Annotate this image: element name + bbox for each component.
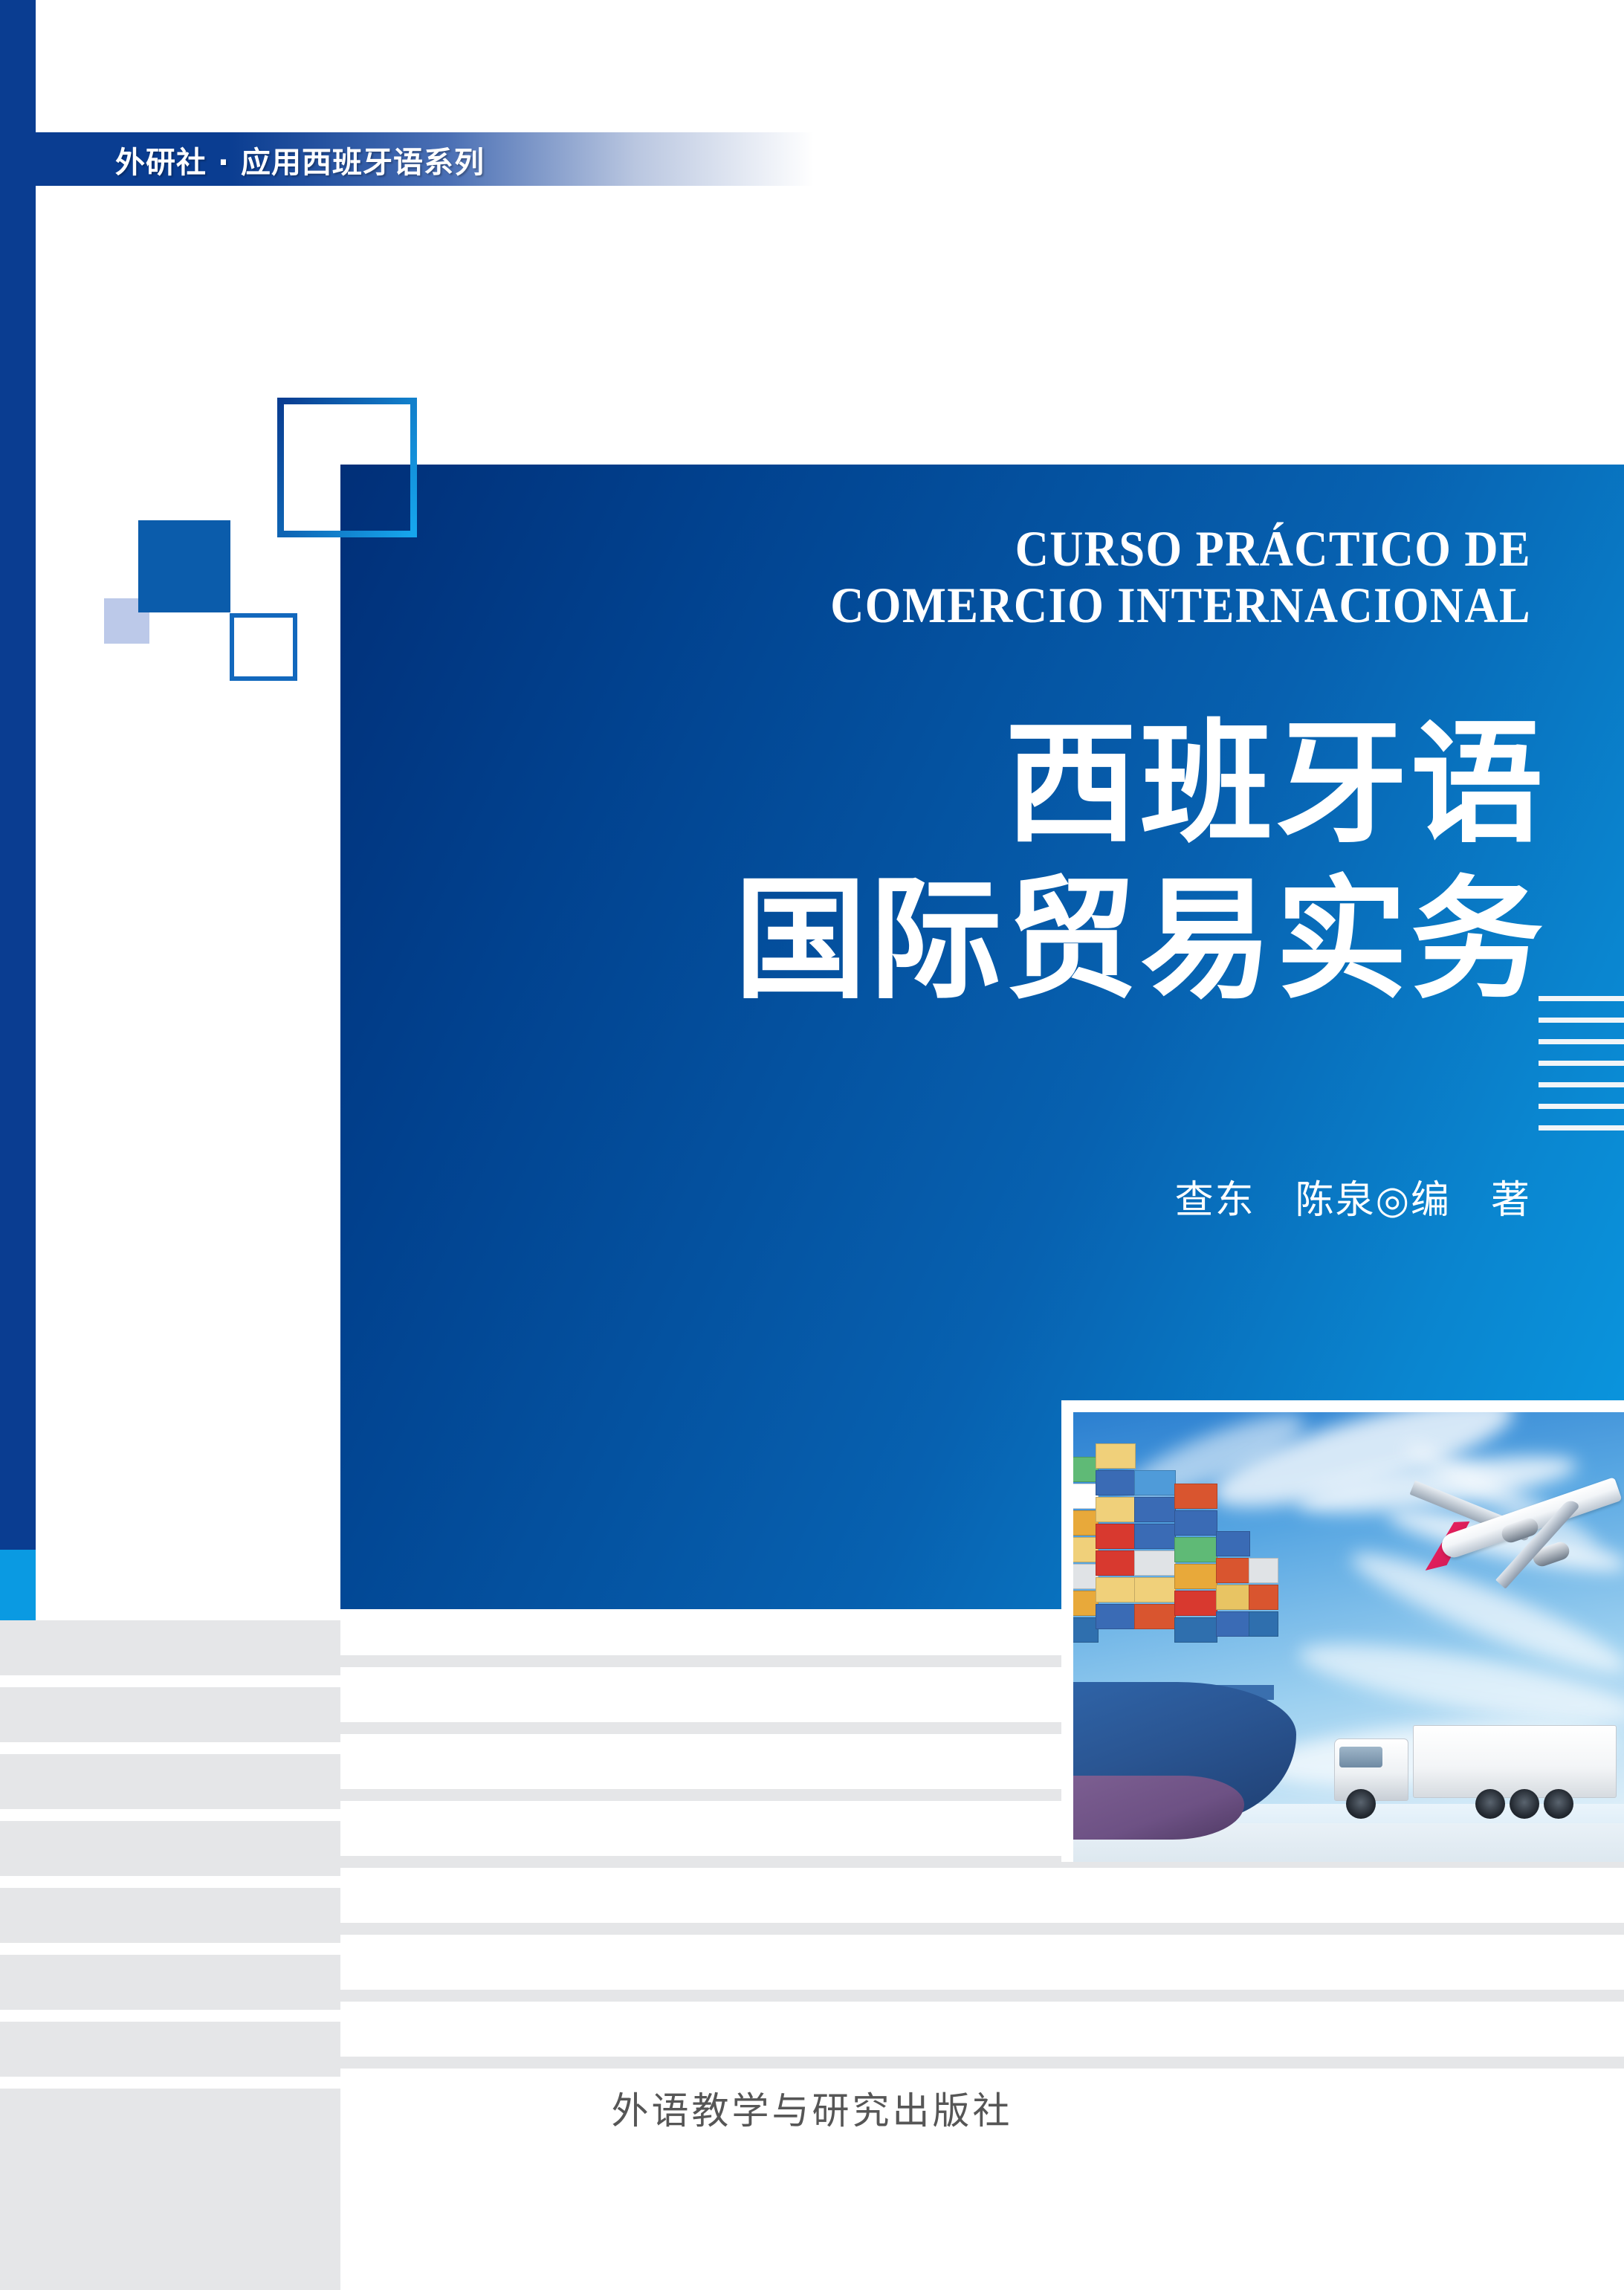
chinese-title-line-1: 西班牙语 — [0, 706, 1546, 862]
cover-photo-frame — [1061, 1400, 1624, 1862]
airplane-icon — [1393, 1453, 1624, 1594]
container-stack — [1073, 1412, 1296, 1710]
shipping-container — [1073, 1591, 1099, 1616]
shipping-container — [1096, 1550, 1136, 1576]
shipping-container — [1073, 1457, 1099, 1482]
shipping-container — [1073, 1564, 1099, 1589]
shipping-container — [1134, 1524, 1176, 1549]
shipping-container — [1216, 1531, 1250, 1556]
shipping-container — [1249, 1611, 1278, 1637]
chinese-title-line-2: 国际贸易实务 — [0, 862, 1546, 1018]
shipping-container — [1096, 1443, 1136, 1469]
shipping-container — [1134, 1470, 1176, 1495]
shipping-container — [1174, 1510, 1217, 1536]
left-brand-bar-accent — [0, 1550, 36, 1620]
shipping-container — [1216, 1558, 1250, 1583]
shipping-container — [1096, 1497, 1136, 1522]
shipping-container — [1249, 1558, 1278, 1583]
shipping-container — [1174, 1591, 1217, 1616]
truck-wheel — [1544, 1789, 1573, 1819]
logistics-photo — [1073, 1412, 1624, 1862]
shipping-container — [1073, 1510, 1099, 1536]
chinese-title: 西班牙语 国际贸易实务 — [0, 706, 1546, 1018]
shipping-container — [1073, 1617, 1099, 1643]
spanish-title-line-2: COMERCIO INTERNACIONAL — [123, 577, 1531, 633]
shipping-container — [1134, 1497, 1176, 1522]
truck-windshield — [1339, 1747, 1382, 1767]
ship-bulbous-bow — [1073, 1776, 1244, 1840]
truck-trailer — [1413, 1725, 1617, 1798]
stripe-band-left — [0, 1620, 340, 2290]
shipping-container — [1134, 1550, 1176, 1576]
series-label: 外研社 · 应用西班牙语系列 — [115, 138, 485, 181]
truck-wheel — [1475, 1789, 1505, 1819]
book-cover: 外研社 · 应用西班牙语系列 CURSO PRÁCTICO DE COMERCI… — [0, 0, 1624, 2290]
shipping-container — [1249, 1585, 1278, 1610]
shipping-container — [1096, 1524, 1136, 1549]
truck-cab — [1334, 1738, 1408, 1801]
shipping-container — [1073, 1484, 1099, 1509]
shipping-container — [1073, 1537, 1099, 1562]
shipping-container — [1216, 1585, 1250, 1610]
shipping-container — [1134, 1604, 1176, 1629]
shipping-container — [1216, 1611, 1250, 1637]
panel-edge-lines — [1539, 996, 1624, 1137]
shipping-container — [1174, 1617, 1217, 1643]
shipping-container — [1134, 1577, 1176, 1602]
decorative-square-outline-large — [277, 398, 417, 537]
shipping-container — [1174, 1564, 1217, 1589]
shipping-container — [1096, 1604, 1136, 1629]
spanish-title: CURSO PRÁCTICO DE COMERCIO INTERNACIONAL — [123, 520, 1531, 633]
truck-wheel — [1510, 1789, 1539, 1819]
publisher-name: 外语教学与研究出版社 — [0, 2081, 1624, 2135]
shipping-container — [1174, 1537, 1217, 1562]
spanish-title-line-1: CURSO PRÁCTICO DE — [123, 520, 1531, 577]
truck-icon — [1334, 1712, 1617, 1823]
shipping-container — [1096, 1577, 1136, 1602]
truck-wheel — [1346, 1789, 1376, 1819]
author-line: 查东 陈泉◎编 著 — [0, 1168, 1531, 1224]
shipping-container — [1096, 1470, 1136, 1495]
shipping-container — [1174, 1484, 1217, 1509]
